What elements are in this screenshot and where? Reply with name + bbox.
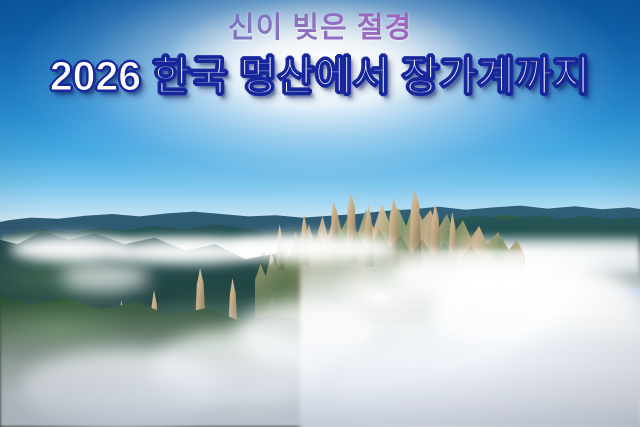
mist-puff-10: [390, 250, 510, 300]
mist-puff-11: [60, 262, 150, 292]
poster-title: 2026 한국 명산에서 장가계까지: [0, 43, 640, 100]
headline-block: 신이 빚은 절경 2026 한국 명산에서 장가계까지: [0, 0, 640, 100]
mist-puff-3: [230, 234, 400, 262]
bottom-fog: [0, 297, 640, 427]
travel-poster: 신이 빚은 절경 2026 한국 명산에서 장가계까지: [0, 0, 640, 427]
poster-subheadline: 신이 빚은 절경: [0, 0, 640, 43]
